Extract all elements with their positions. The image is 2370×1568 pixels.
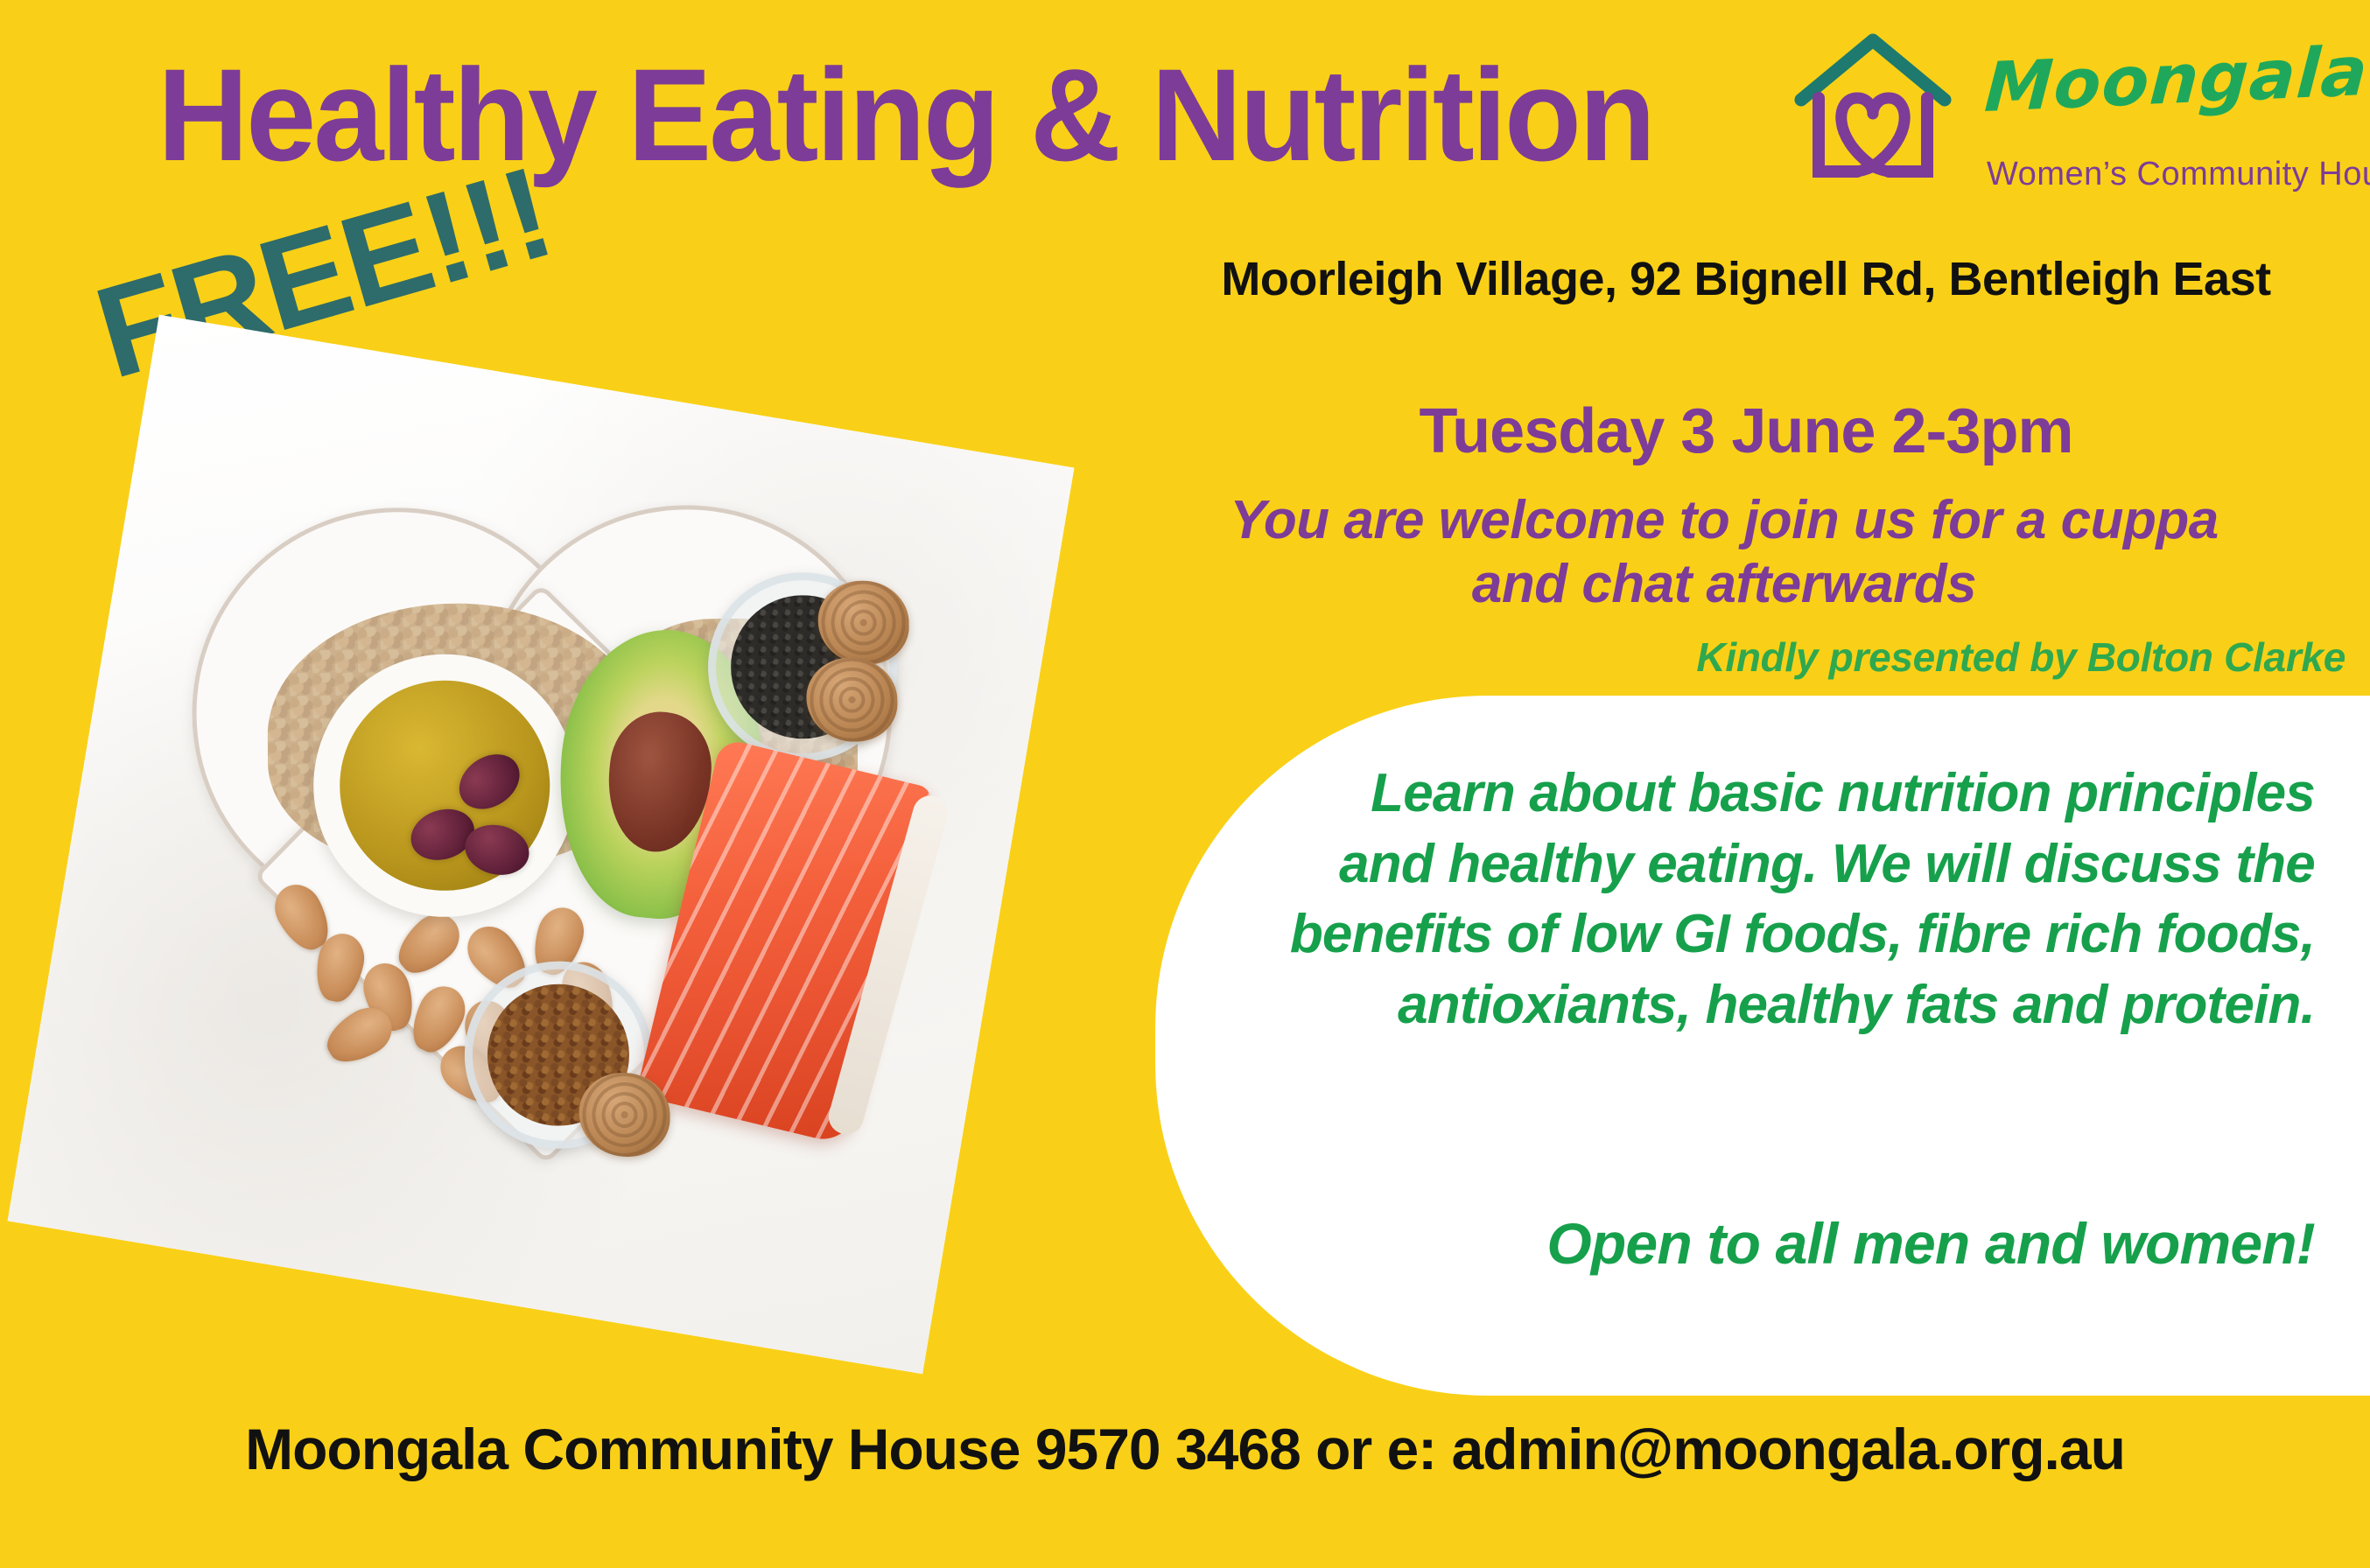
food-photo-image	[8, 315, 1075, 1375]
house-with-heart-icon	[1785, 26, 1960, 201]
logo-tagline: Women’s Community House	[1987, 156, 2370, 193]
food-items-layer	[181, 468, 905, 1192]
presented-by: Kindly presented by Bolton Clarke	[1094, 633, 2345, 681]
open-to-all-text: Open to all men and women!	[1287, 1210, 2315, 1277]
cuppa-invite: You are welcome to join us for a cuppa a…	[1094, 488, 2354, 616]
venue-address: Moorleigh Village, 92 Bignell Rd, Bentle…	[1146, 252, 2345, 306]
cuppa-line-2: and chat afterwards	[1094, 552, 2354, 616]
food-photo	[8, 315, 1075, 1375]
event-datetime: Tuesday 3 June 2-3pm	[1146, 395, 2345, 467]
contact-footer: Moongala Community House 9570 3468 or e:…	[0, 1416, 2370, 1482]
description-panel: Learn about basic nutrition principles a…	[1155, 696, 2370, 1396]
walnut	[578, 1073, 670, 1158]
cuppa-line-1: You are welcome to join us for a cuppa	[1094, 488, 2354, 552]
logo-wordmark: Moongala	[1982, 32, 2370, 128]
poster-canvas: Healthy Eating & Nutrition Moongala Wome…	[0, 0, 2370, 1568]
page-title: Healthy Eating & Nutrition	[158, 49, 1653, 180]
olive-oil-bowl	[312, 654, 578, 919]
moongala-logo: Moongala Women’s Community House	[1785, 24, 2345, 210]
description-text: Learn about basic nutrition principles a…	[1287, 759, 2315, 1040]
